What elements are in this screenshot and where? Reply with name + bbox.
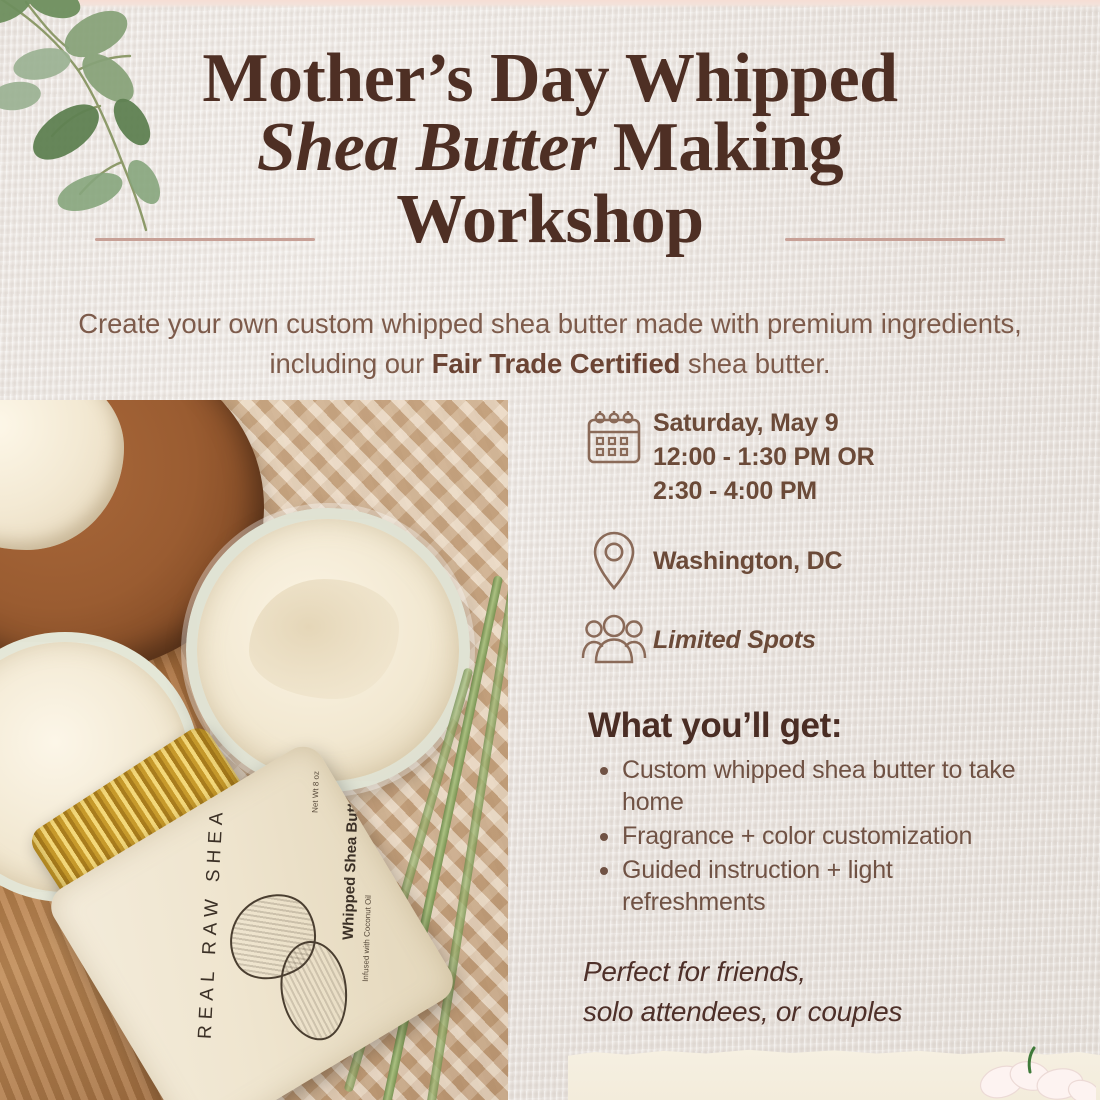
tagline-line-1: Perfect for friends,	[583, 952, 1053, 992]
photo-label-net-weight: Net Wt 8 oz	[310, 771, 320, 813]
flyer-canvas: Mother’s Day Whipped Shea Butter Making …	[0, 0, 1100, 1100]
white-flower-decoration-icon	[968, 1038, 1096, 1100]
subtitle-text: Create your own custom whipped shea butt…	[70, 304, 1030, 383]
detail-row-location: Washington, DC	[575, 530, 1045, 592]
what-you-get-section: What you’ll get: Custom whipped shea but…	[588, 706, 1038, 920]
detail-spots-text: Limited Spots	[653, 623, 816, 657]
what-you-get-heading: What you’ll get:	[588, 706, 1038, 746]
calendar-icon	[575, 404, 653, 470]
detail-date-text: Saturday, May 9 12:00 - 1:30 PM OR 2:30 …	[653, 404, 875, 508]
header-block: Mother’s Day Whipped Shea Butter Making …	[95, 44, 1005, 254]
photo-open-jar	[186, 508, 470, 792]
product-photo: REAL RAW SHEA Whipped Shea Butter Infuse…	[0, 400, 508, 1100]
detail-location-text: Washington, DC	[653, 544, 842, 578]
event-details-list: Saturday, May 9 12:00 - 1:30 PM OR 2:30 …	[575, 404, 1045, 688]
photo-label-infused-text: Infused with Coconut Oil	[361, 895, 373, 982]
subtitle-part-2: shea butter.	[680, 348, 830, 379]
people-group-icon	[575, 614, 653, 666]
list-item: Custom whipped shea butter to take home	[588, 754, 1038, 818]
closing-tagline: Perfect for friends, solo attendees, or …	[583, 952, 1053, 1033]
page-title: Mother’s Day Whipped Shea Butter Making …	[95, 44, 1005, 254]
subtitle-bold-fairtrade: Fair Trade Certified	[432, 348, 681, 379]
title-divider-row	[95, 238, 1005, 241]
photo-label-brand: REAL RAW SHEA	[195, 806, 229, 1040]
title-line-1: Mother’s Day Whipped	[202, 40, 897, 117]
detail-row-spots: Limited Spots	[575, 614, 1045, 666]
divider-rule-left	[95, 238, 315, 241]
detail-date-line-2: 12:00 - 1:30 PM OR	[653, 440, 875, 474]
title-line-2-italic: Shea Butter	[257, 109, 596, 186]
list-item: Fragrance + color customization	[588, 820, 1038, 852]
tagline-line-2: solo attendees, or couples	[583, 992, 1053, 1032]
photo-bowl-shea-butter	[0, 400, 124, 550]
what-you-get-list: Custom whipped shea butter to take home …	[588, 754, 1038, 918]
location-pin-icon	[575, 530, 653, 592]
list-item: Guided instruction + light refreshments	[588, 854, 1038, 918]
photo-jar-butter-swirl	[249, 579, 399, 699]
detail-date-line-3: 2:30 - 4:00 PM	[653, 474, 875, 508]
top-accent-strip	[0, 0, 1100, 8]
detail-date-line-1: Saturday, May 9	[653, 406, 875, 440]
detail-row-date: Saturday, May 9 12:00 - 1:30 PM OR 2:30 …	[575, 404, 1045, 508]
title-line-2-rest: Making	[596, 109, 843, 186]
divider-rule-right	[785, 238, 1005, 241]
title-line-3: Workshop	[95, 185, 1005, 254]
